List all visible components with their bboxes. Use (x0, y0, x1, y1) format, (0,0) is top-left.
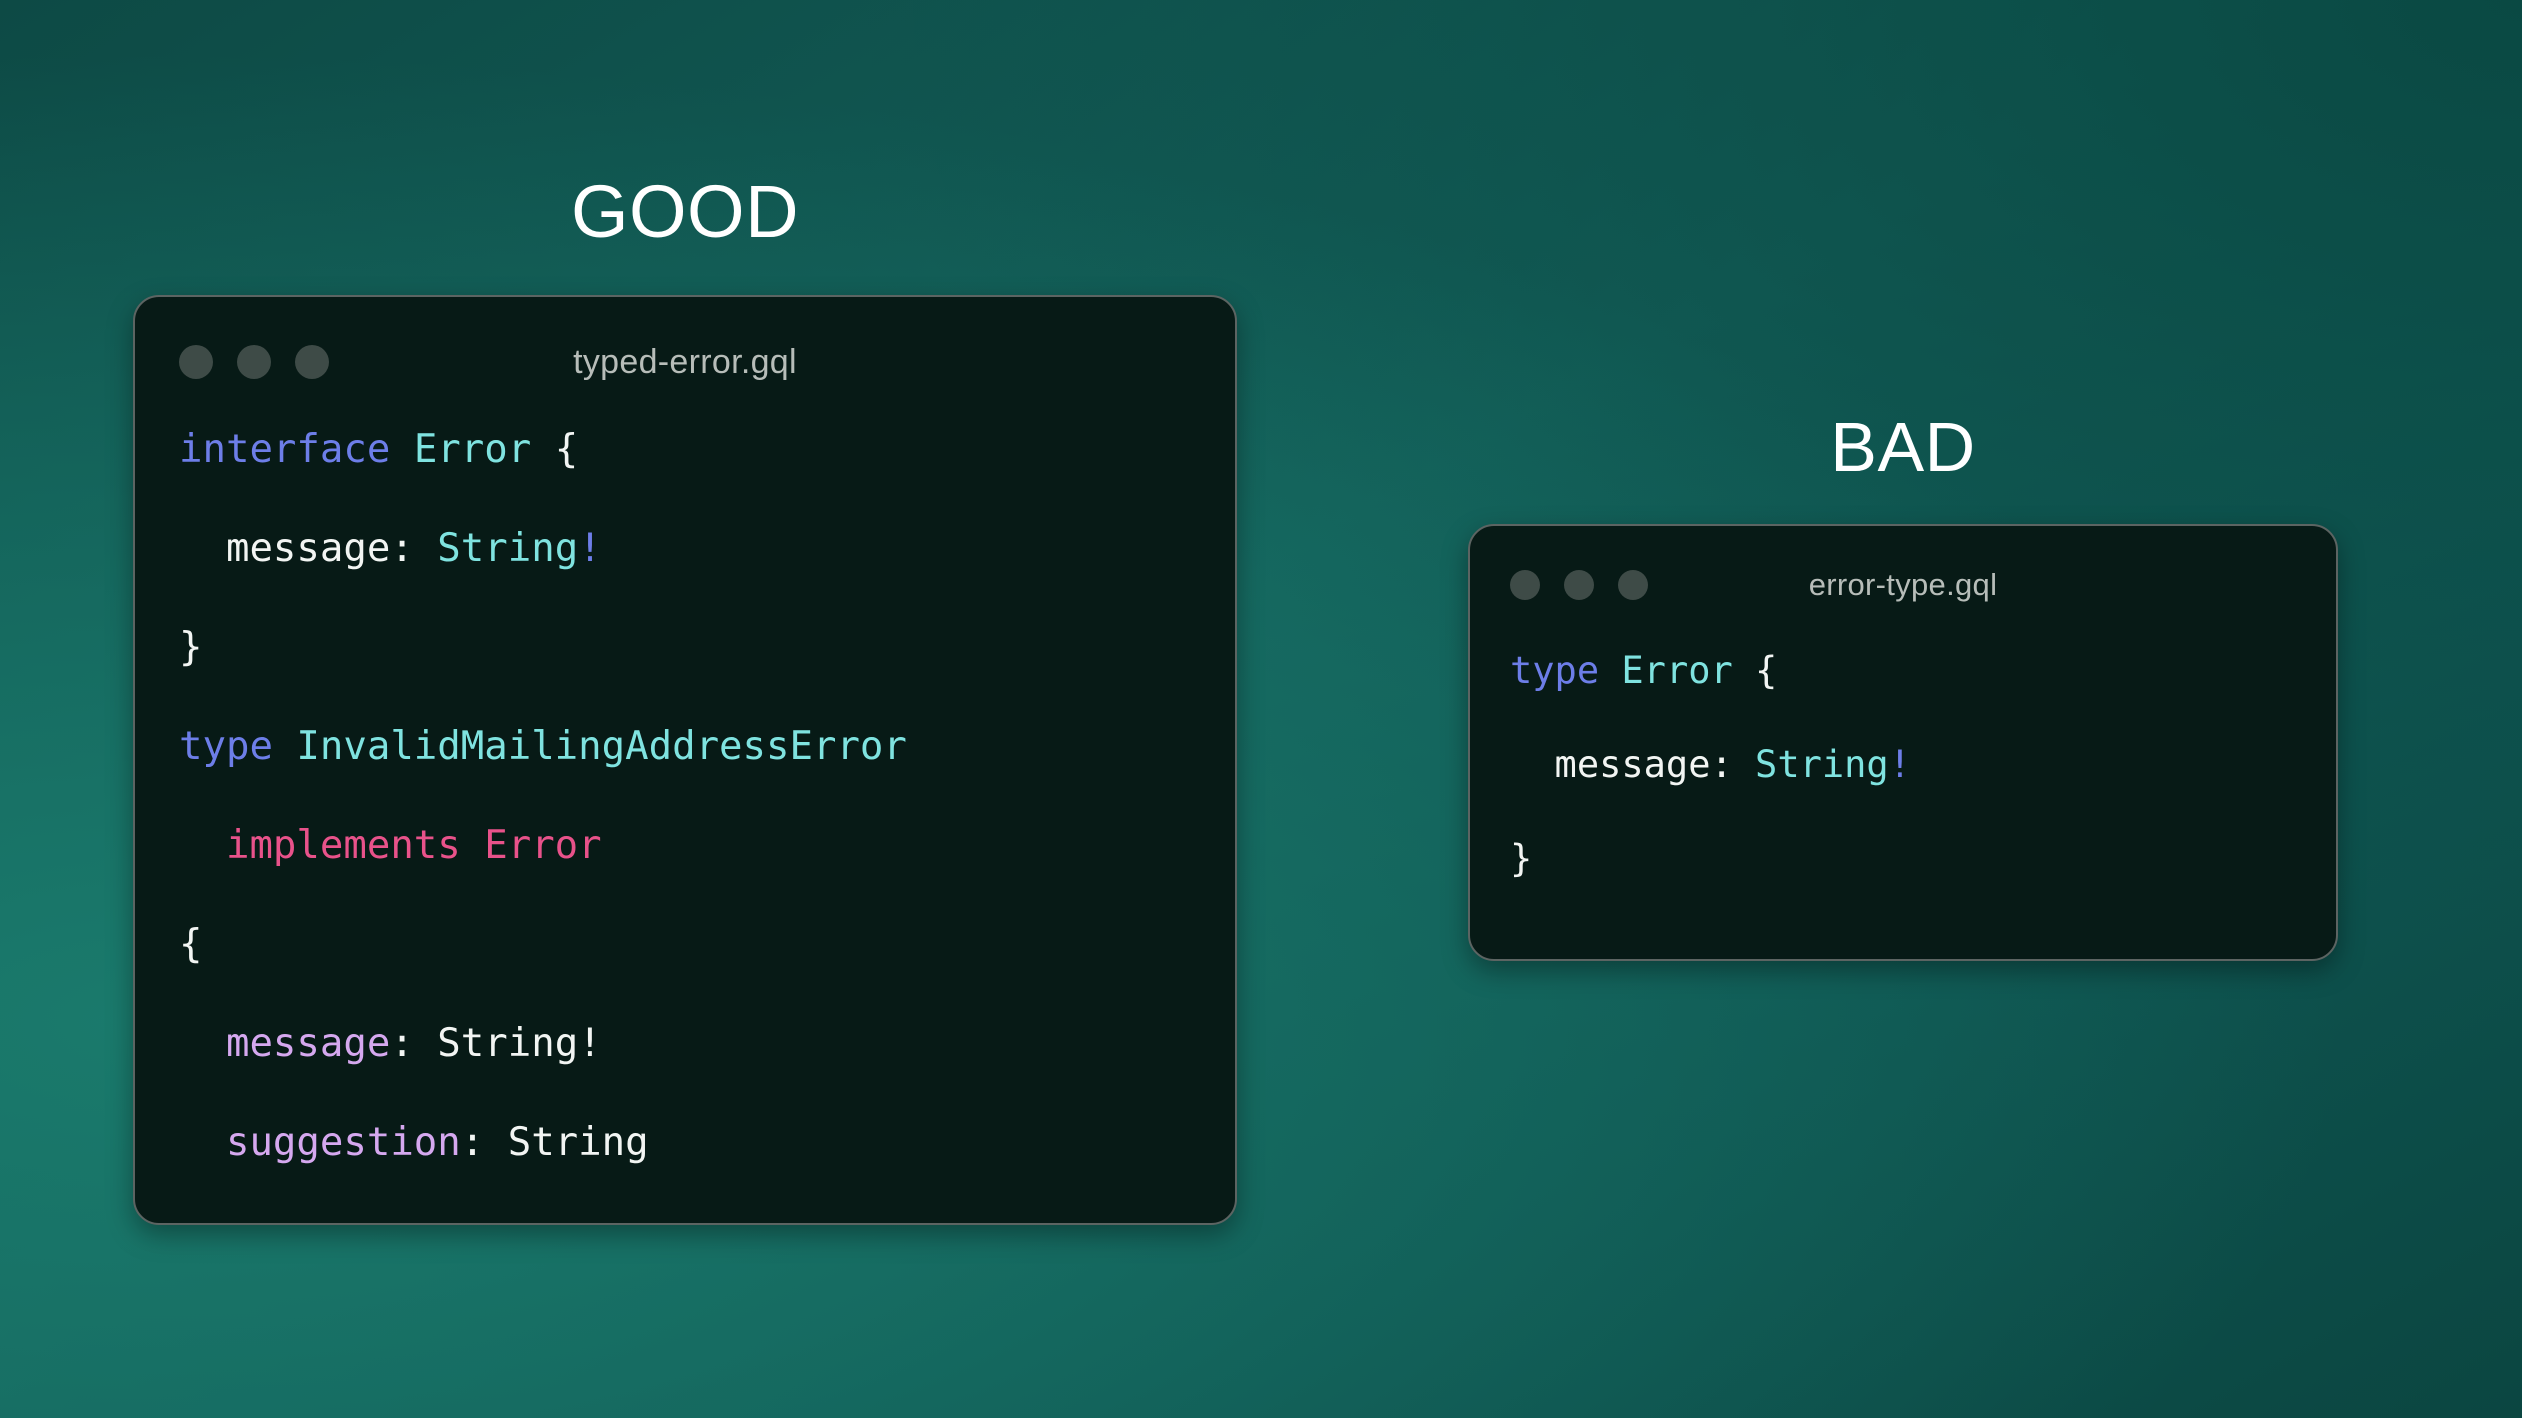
window-filename-good: typed-error.gql (179, 343, 1191, 382)
code-line: message: String! (1510, 742, 2296, 789)
code-token: type (1510, 649, 1621, 692)
code-token: : (390, 526, 437, 571)
code-token: { (531, 427, 578, 472)
comparison-panel-bad: BAD error-type.gql type Error { message:… (1468, 412, 2338, 961)
code-line: message: String! (179, 1019, 1191, 1069)
window-maximize-dot-icon[interactable] (1618, 570, 1648, 600)
code-line: } (1510, 836, 2296, 883)
code-token: implements Error (179, 823, 602, 868)
code-token: String (437, 526, 578, 571)
code-token: String (1755, 743, 1889, 786)
code-token: suggestion (179, 1120, 461, 1165)
code-line: message: String! (179, 524, 1191, 574)
window-titlebar-good: typed-error.gql (179, 335, 1191, 389)
code-block-good: interface Error { message: String! } typ… (179, 425, 1191, 1225)
code-token: ! (578, 526, 601, 571)
code-line: { (179, 920, 1191, 970)
window-minimize-dot-icon[interactable] (237, 345, 271, 379)
window-maximize-dot-icon[interactable] (295, 345, 329, 379)
code-line: suggestion: String (179, 1118, 1191, 1168)
code-line: implements Error (179, 821, 1191, 871)
panel-title-good: GOOD (133, 175, 1237, 249)
code-window-bad: error-type.gql type Error { message: Str… (1468, 524, 2338, 961)
window-titlebar-bad: error-type.gql (1510, 558, 2296, 612)
code-token: : (1710, 743, 1755, 786)
code-token: } (179, 625, 202, 670)
window-close-dot-icon[interactable] (179, 345, 213, 379)
traffic-lights-bad (1510, 570, 1648, 600)
code-token: : String (461, 1120, 649, 1165)
canvas: GOOD typed-error.gql interface Error { m… (0, 0, 2522, 1418)
panel-title-bad: BAD (1468, 412, 2338, 482)
code-line: } (179, 1217, 1191, 1225)
code-token: { (1733, 649, 1778, 692)
comparison-panel-good: GOOD typed-error.gql interface Error { m… (133, 175, 1237, 1225)
code-token: } (1510, 837, 1532, 880)
window-minimize-dot-icon[interactable] (1564, 570, 1594, 600)
code-line: interface Error { (179, 425, 1191, 475)
code-token: InvalidMailingAddressError (296, 724, 906, 769)
window-close-dot-icon[interactable] (1510, 570, 1540, 600)
code-token: ! (1889, 743, 1911, 786)
code-token: Error (1621, 649, 1732, 692)
code-token: type (179, 724, 296, 769)
code-token: Error (414, 427, 531, 472)
code-window-good: typed-error.gql interface Error { messag… (133, 295, 1237, 1225)
code-line: } (179, 623, 1191, 673)
traffic-lights-good (179, 345, 329, 379)
code-token: : String! (390, 1021, 601, 1066)
code-block-bad: type Error { message: String! } (1510, 648, 2296, 883)
code-token: } (179, 1219, 202, 1225)
code-token: { (179, 922, 202, 967)
code-line: type Error { (1510, 648, 2296, 695)
code-token: message (179, 1021, 390, 1066)
code-token: message (1510, 743, 1710, 786)
code-line: type InvalidMailingAddressError (179, 722, 1191, 772)
code-token: interface (179, 427, 414, 472)
code-token: message (179, 526, 390, 571)
